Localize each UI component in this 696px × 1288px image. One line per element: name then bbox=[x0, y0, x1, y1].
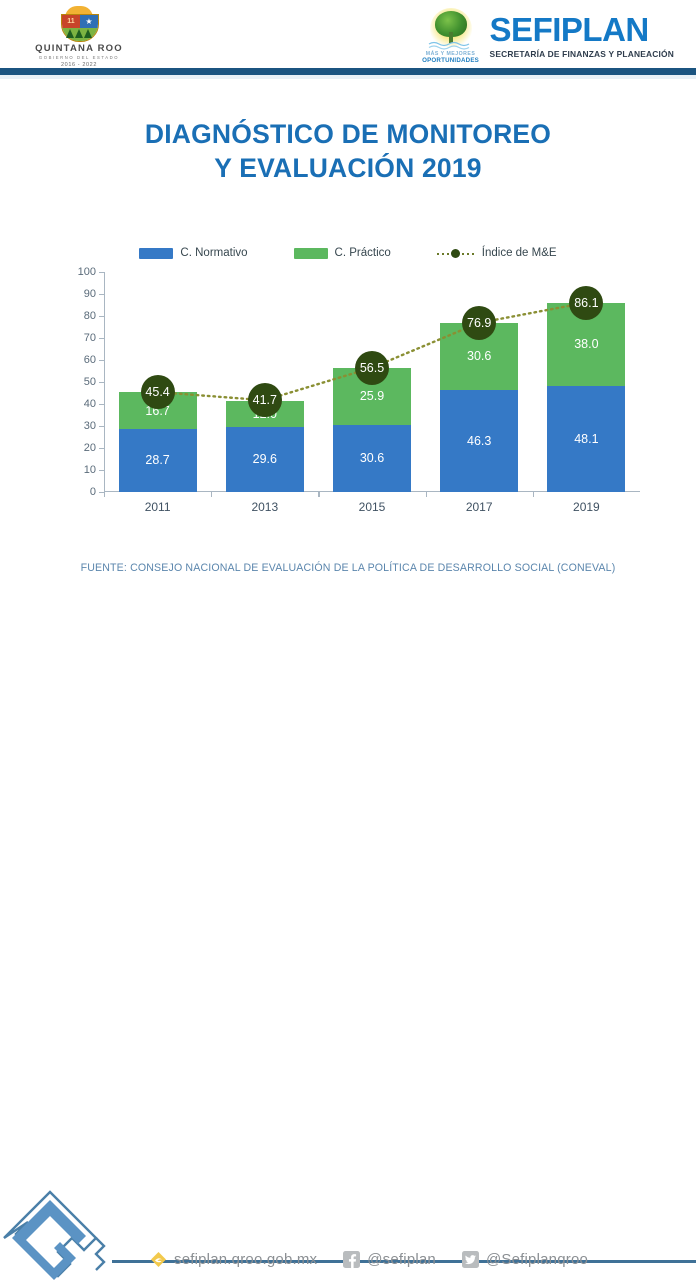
quintana-roo-coat-of-arms-icon: 11 ★ bbox=[57, 6, 101, 40]
trees-icon bbox=[65, 26, 93, 38]
bar-value-normativo: 46.3 bbox=[467, 434, 491, 448]
quintana-roo-logo: 11 ★ QUINTANA ROO GOBIERNO DEL ESTADO 20… bbox=[24, 6, 134, 68]
y-axis-tick-mark bbox=[99, 338, 104, 339]
bar-value-practico: 25.9 bbox=[360, 389, 384, 403]
bar-value-normativo: 29.6 bbox=[253, 452, 277, 466]
bar-segment-normativo[interactable]: 29.6 bbox=[226, 427, 304, 492]
legend-item-indice[interactable]: Índice de M&E bbox=[437, 247, 557, 259]
bar-segment-normativo[interactable]: 46.3 bbox=[440, 390, 518, 492]
x-axis-tick-mark bbox=[533, 492, 534, 497]
water-waves-icon bbox=[428, 40, 474, 51]
y-axis-tick: 10 bbox=[66, 464, 96, 476]
bar-group[interactable]: 30.625.9 bbox=[333, 368, 411, 492]
footer-website[interactable]: sefiplan.qroo.gob.mx bbox=[150, 1251, 317, 1268]
y-axis-tick-mark bbox=[99, 360, 104, 361]
globe-diamond-icon bbox=[150, 1251, 167, 1268]
page-footer: sefiplan.qroo.gob.mx @sefiplan @Sefiplan… bbox=[0, 592, 696, 696]
bar-group[interactable]: 48.138.0 bbox=[547, 303, 625, 492]
legend-item-practico[interactable]: C. Práctico bbox=[294, 247, 391, 259]
bar-value-practico: 38.0 bbox=[574, 337, 598, 351]
y-axis-tick-mark bbox=[99, 470, 104, 471]
page-title: DIAGNÓSTICO DE MONITOREO Y EVALUACIÓN 20… bbox=[0, 118, 696, 186]
footer-facebook[interactable]: @sefiplan bbox=[343, 1251, 436, 1268]
x-axis-label: 2011 bbox=[145, 500, 171, 514]
legend-item-normativo[interactable]: C. Normativo bbox=[139, 247, 247, 259]
y-axis-tick: 70 bbox=[66, 332, 96, 344]
plot-area: 28.716.729.612.030.625.946.330.648.138.0… bbox=[104, 272, 640, 492]
page-header: 11 ★ QUINTANA ROO GOBIERNO DEL ESTADO 20… bbox=[0, 0, 696, 68]
stacked-bar-chart: 1009080706050403020100 28.716.729.612.03… bbox=[0, 272, 696, 527]
x-axis-label: 2017 bbox=[466, 500, 493, 514]
legend-label-practico: C. Práctico bbox=[335, 247, 391, 259]
y-axis-tick-mark bbox=[99, 316, 104, 317]
y-axis-tick: 60 bbox=[66, 354, 96, 366]
g-monogram-icon bbox=[0, 1188, 116, 1288]
x-axis-tick-mark bbox=[318, 492, 319, 497]
legend-dotted-line-icon bbox=[437, 248, 475, 259]
footer-website-label: sefiplan.qroo.gob.mx bbox=[174, 1251, 317, 1268]
y-axis-tick-mark bbox=[99, 272, 104, 273]
y-axis-tick-mark bbox=[99, 448, 104, 449]
y-axis-tick: 50 bbox=[66, 376, 96, 388]
page-title-line2: Y EVALUACIÓN 2019 bbox=[0, 152, 696, 186]
y-axis-tick: 0 bbox=[66, 486, 96, 498]
twitter-icon bbox=[462, 1251, 479, 1268]
x-axis-label: 2015 bbox=[359, 500, 386, 514]
y-axis-tick: 80 bbox=[66, 310, 96, 322]
index-value-badge[interactable]: 41.7 bbox=[248, 383, 282, 417]
bar-value-normativo: 30.6 bbox=[360, 451, 384, 465]
bar-value-practico: 30.6 bbox=[467, 349, 491, 363]
footer-links: sefiplan.qroo.gob.mx @sefiplan @Sefiplan… bbox=[150, 1244, 670, 1274]
x-axis-labels: 20112013201520172019 bbox=[104, 500, 640, 520]
legend-label-indice: Índice de M&E bbox=[482, 247, 557, 259]
state-name: QUINTANA ROO bbox=[35, 43, 123, 54]
y-axis-tick-mark bbox=[99, 404, 104, 405]
header-divider-light bbox=[0, 75, 696, 79]
x-axis-label: 2013 bbox=[251, 500, 278, 514]
tree-emblem-icon: MÁS Y MEJORES OPORTUNIDADES bbox=[418, 8, 484, 64]
bar-segment-normativo[interactable]: 48.1 bbox=[547, 386, 625, 492]
bar-segment-normativo[interactable]: 28.7 bbox=[119, 429, 197, 492]
bar-segment-normativo[interactable]: 30.6 bbox=[333, 425, 411, 492]
y-axis-tick: 30 bbox=[66, 420, 96, 432]
x-axis-tick-mark bbox=[426, 492, 427, 497]
y-axis-tick: 40 bbox=[66, 398, 96, 410]
facebook-icon bbox=[343, 1251, 360, 1268]
brand-subtitle: SECRETARÍA DE FINANZAS Y PLANEACIÓN bbox=[490, 49, 674, 59]
legend-swatch-icon-practico bbox=[294, 248, 328, 259]
y-axis: 1009080706050403020100 bbox=[66, 272, 100, 492]
y-axis-tick-mark bbox=[99, 294, 104, 295]
y-axis-tick: 20 bbox=[66, 442, 96, 454]
footer-facebook-label: @sefiplan bbox=[367, 1251, 436, 1268]
chart-legend: C. Normativo C. Práctico Índice de M&E bbox=[0, 247, 696, 259]
bar-value-normativo: 28.7 bbox=[145, 453, 169, 467]
header-divider bbox=[0, 68, 696, 75]
x-axis-label: 2019 bbox=[573, 500, 600, 514]
x-axis-tick-mark bbox=[104, 492, 105, 497]
footer-twitter-label: @Sefiplanqroo bbox=[486, 1251, 588, 1268]
state-subtitle: GOBIERNO DEL ESTADO bbox=[39, 55, 119, 60]
program-tagline-line2: OPORTUNIDADES bbox=[418, 57, 484, 64]
footer-twitter[interactable]: @Sefiplanqroo bbox=[462, 1251, 588, 1268]
brand-name: SEFIPLAN bbox=[490, 13, 674, 46]
source-note: FUENTE: CONSEJO NACIONAL DE EVALUACIÓN D… bbox=[0, 562, 696, 574]
y-axis-tick: 100 bbox=[66, 266, 96, 278]
sefiplan-logo-block: MÁS Y MEJORES OPORTUNIDADES SEFIPLAN SEC… bbox=[418, 8, 674, 64]
bar-group[interactable]: 46.330.6 bbox=[440, 323, 518, 492]
y-axis-tick-mark bbox=[99, 426, 104, 427]
bar-value-normativo: 48.1 bbox=[574, 432, 598, 446]
y-axis-tick-mark bbox=[99, 382, 104, 383]
x-axis-tick-mark bbox=[211, 492, 212, 497]
index-value-badge[interactable]: 86.1 bbox=[569, 286, 603, 320]
legend-swatch-icon-normativo bbox=[139, 248, 173, 259]
index-value-badge[interactable]: 56.5 bbox=[355, 351, 389, 385]
y-axis-tick: 90 bbox=[66, 288, 96, 300]
index-value-badge[interactable]: 76.9 bbox=[462, 306, 496, 340]
page-title-line1: DIAGNÓSTICO DE MONITOREO bbox=[0, 118, 696, 152]
index-value-badge[interactable]: 45.4 bbox=[141, 375, 175, 409]
legend-label-normativo: C. Normativo bbox=[180, 247, 247, 259]
